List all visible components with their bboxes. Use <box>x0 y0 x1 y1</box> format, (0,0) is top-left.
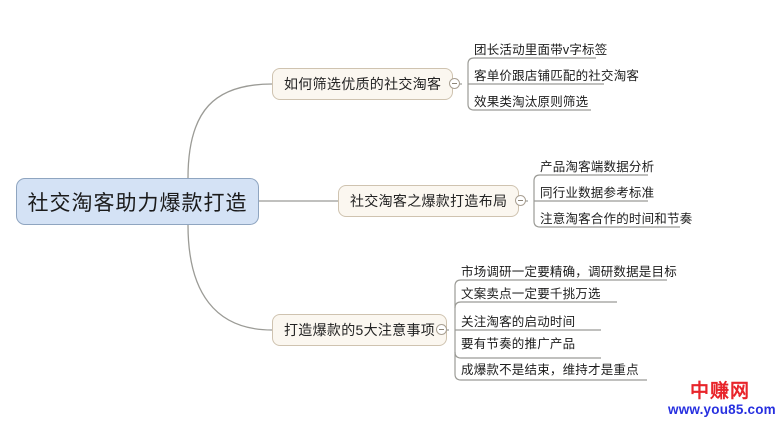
collapse-minus-icon-branch-1[interactable] <box>449 78 460 89</box>
leaf-underline-3-1 <box>455 280 667 286</box>
leaf-item-3-1[interactable]: 市场调研一定要精确，调研数据是目标 <box>461 266 677 279</box>
root-node-label: 社交淘客助力爆款打造 <box>28 187 248 217</box>
branch-node-1-label: 如何筛选优质的社交淘客 <box>284 74 441 94</box>
collapse-minus-icon-branch-2[interactable] <box>515 195 526 206</box>
root-node[interactable]: 社交淘客助力爆款打造 <box>16 178 259 225</box>
leaf-underline-2-1 <box>534 175 648 181</box>
leaf-underline-3-4 <box>455 352 601 358</box>
mindmap-canvas: 社交淘客助力爆款打造 如何筛选优质的社交淘客 团长活动里面带v字标签 客单价跟店… <box>0 0 778 431</box>
leaf-item-1-1[interactable]: 团长活动里面带v字标签 <box>474 44 607 57</box>
branch-node-2-label: 社交淘客之爆款打造布局 <box>350 191 507 211</box>
leaf-item-3-4[interactable]: 要有节奏的推广产品 <box>461 338 575 351</box>
watermark: 中赚网 www.you85.com <box>668 382 772 417</box>
branch-node-1[interactable]: 如何筛选优质的社交淘客 <box>272 68 453 100</box>
branch-node-3[interactable]: 打造爆款的5大注意事项 <box>272 314 447 346</box>
branch-node-2[interactable]: 社交淘客之爆款打造布局 <box>338 185 519 217</box>
leaf-item-2-2[interactable]: 同行业数据参考标准 <box>540 187 654 200</box>
leaf-item-2-1[interactable]: 产品淘客端数据分析 <box>540 161 654 174</box>
collapse-minus-icon-branch-3[interactable] <box>436 324 447 335</box>
branch-node-3-label: 打造爆款的5大注意事项 <box>284 320 435 340</box>
leaf-item-1-2[interactable]: 客单价跟店铺匹配的社交淘客 <box>474 70 639 83</box>
leaf-item-1-3[interactable]: 效果类淘汰原则筛选 <box>474 96 588 109</box>
leaf-item-3-5[interactable]: 成爆款不是结束，维持才是重点 <box>461 364 639 377</box>
watermark-site-name: 中赚网 <box>668 382 772 401</box>
leaf-item-3-3[interactable]: 关注淘客的启动时间 <box>461 316 575 329</box>
leaf-underline-3-2 <box>455 302 617 308</box>
leaf-underline-1-1 <box>468 58 596 64</box>
watermark-url: www.you85.com <box>668 403 772 417</box>
leaf-item-3-2[interactable]: 文案卖点一定要千挑万选 <box>461 288 601 301</box>
connector-root-to-branch-1 <box>188 84 272 178</box>
connector-root-to-branch-3 <box>188 225 272 330</box>
leaf-item-2-3[interactable]: 注意淘客合作的时间和节奏 <box>540 213 692 226</box>
